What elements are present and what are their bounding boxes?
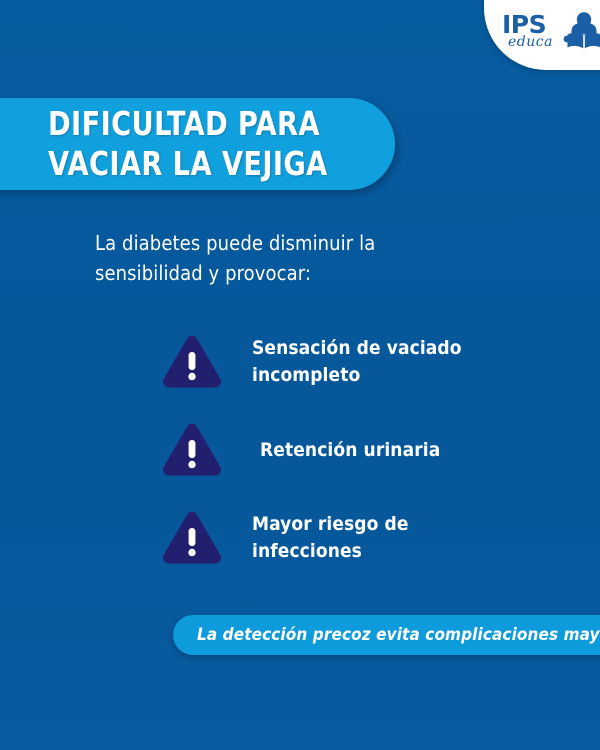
logo-tagline: educa [508,35,553,49]
logo-lockup: IPS educa [500,10,600,60]
title-line-2: VACIAR LA VEJIGA [48,144,352,184]
list-item-label: Mayor riesgo de infecciones [252,511,409,565]
intro-line-1: La diabetes puede disminuir la [95,228,425,258]
list-item-label: Retención urinaria [252,437,440,464]
symptom-list: Sensación de vaciado incompleto Retenció… [160,325,580,589]
page-title: DIFICULTAD PARA VACIAR LA VEJIGA [48,104,352,184]
warning-triangle-icon [160,421,224,479]
footer-message: La detección precoz evita complicaciones… [197,624,600,646]
list-item-line-2: incompleto [252,362,462,389]
list-item-line-1: Mayor riesgo de [252,511,409,538]
list-item-label: Sensación de vaciado incompleto [252,335,462,389]
intro-paragraph: La diabetes puede disminuir la sensibili… [95,228,425,288]
list-item: Sensación de vaciado incompleto [160,325,580,399]
list-item: Retención urinaria [160,413,580,487]
footer-banner: La detección precoz evita complicaciones… [173,615,600,655]
intro-line-2: sensibilidad y provocar: [95,258,425,288]
title-line-1: DIFICULTAD PARA [48,104,352,144]
title-banner: DIFICULTAD PARA VACIAR LA VEJIGA [0,98,395,190]
list-item: Mayor riesgo de infecciones [160,501,580,575]
logo-badge: IPS educa [484,0,600,70]
poster-canvas: IPS educa DIFICULTAD PARA VACIAR LA VEJI… [0,0,600,750]
list-item-line-2: infecciones [252,538,409,565]
warning-triangle-icon [160,333,224,391]
warning-triangle-icon [160,509,224,567]
reading-person-icon [562,10,600,54]
list-item-line-1: Sensación de vaciado [252,335,462,362]
list-item-line-1: Retención urinaria [260,437,440,464]
